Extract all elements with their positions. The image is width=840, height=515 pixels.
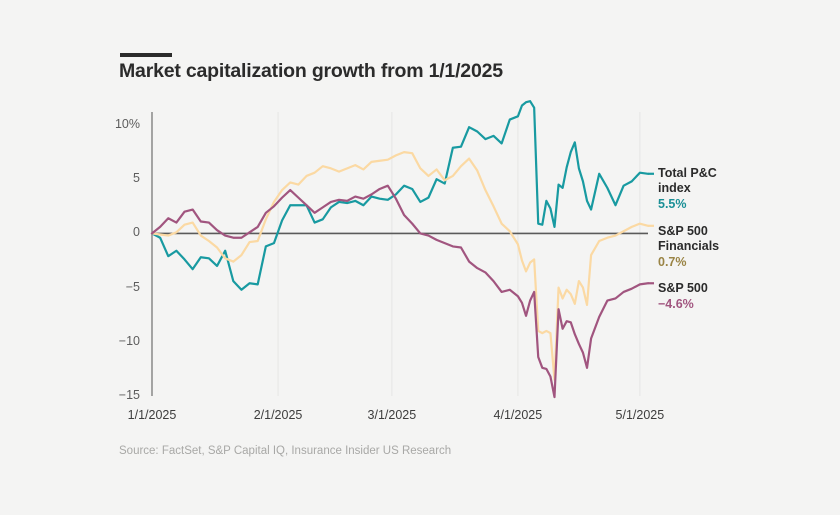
legend-item-label-cont: index: [658, 181, 788, 196]
x-tick-label: 4/1/2025: [468, 408, 568, 422]
legend-item-label-cont: Financials: [658, 239, 788, 254]
legend-item-label: S&P 500: [658, 281, 788, 296]
y-tick-label: −5: [100, 280, 140, 294]
legend-item-3[interactable]: S&P 500−4.6%: [658, 281, 788, 313]
x-tick-label: 2/1/2025: [228, 408, 328, 422]
legend-item-label: S&P 500: [658, 224, 788, 239]
legend-item-2[interactable]: S&P 500Financials0.7%: [658, 224, 788, 271]
legend-item-label: Total P&C: [658, 166, 788, 181]
y-tick-label: −15: [100, 388, 140, 402]
x-tick-label: 1/1/2025: [102, 408, 202, 422]
y-tick-label: 10%: [100, 117, 140, 131]
legend-item-1[interactable]: Total P&Cindex5.5%: [658, 166, 788, 213]
chart-figure: Market capitalization growth from 1/1/20…: [0, 0, 840, 515]
y-tick-label: 5: [100, 171, 140, 185]
y-tick-label: 0: [100, 225, 140, 239]
x-tick-label: 3/1/2025: [342, 408, 442, 422]
y-tick-label: −10: [100, 334, 140, 348]
x-tick-label: 5/1/2025: [590, 408, 690, 422]
legend-item-value: 0.7%: [658, 254, 788, 271]
legend-item-value: 5.5%: [658, 196, 788, 213]
legend-item-value: −4.6%: [658, 296, 788, 313]
source-note: Source: FactSet, S&P Capital IQ, Insuran…: [119, 445, 451, 457]
